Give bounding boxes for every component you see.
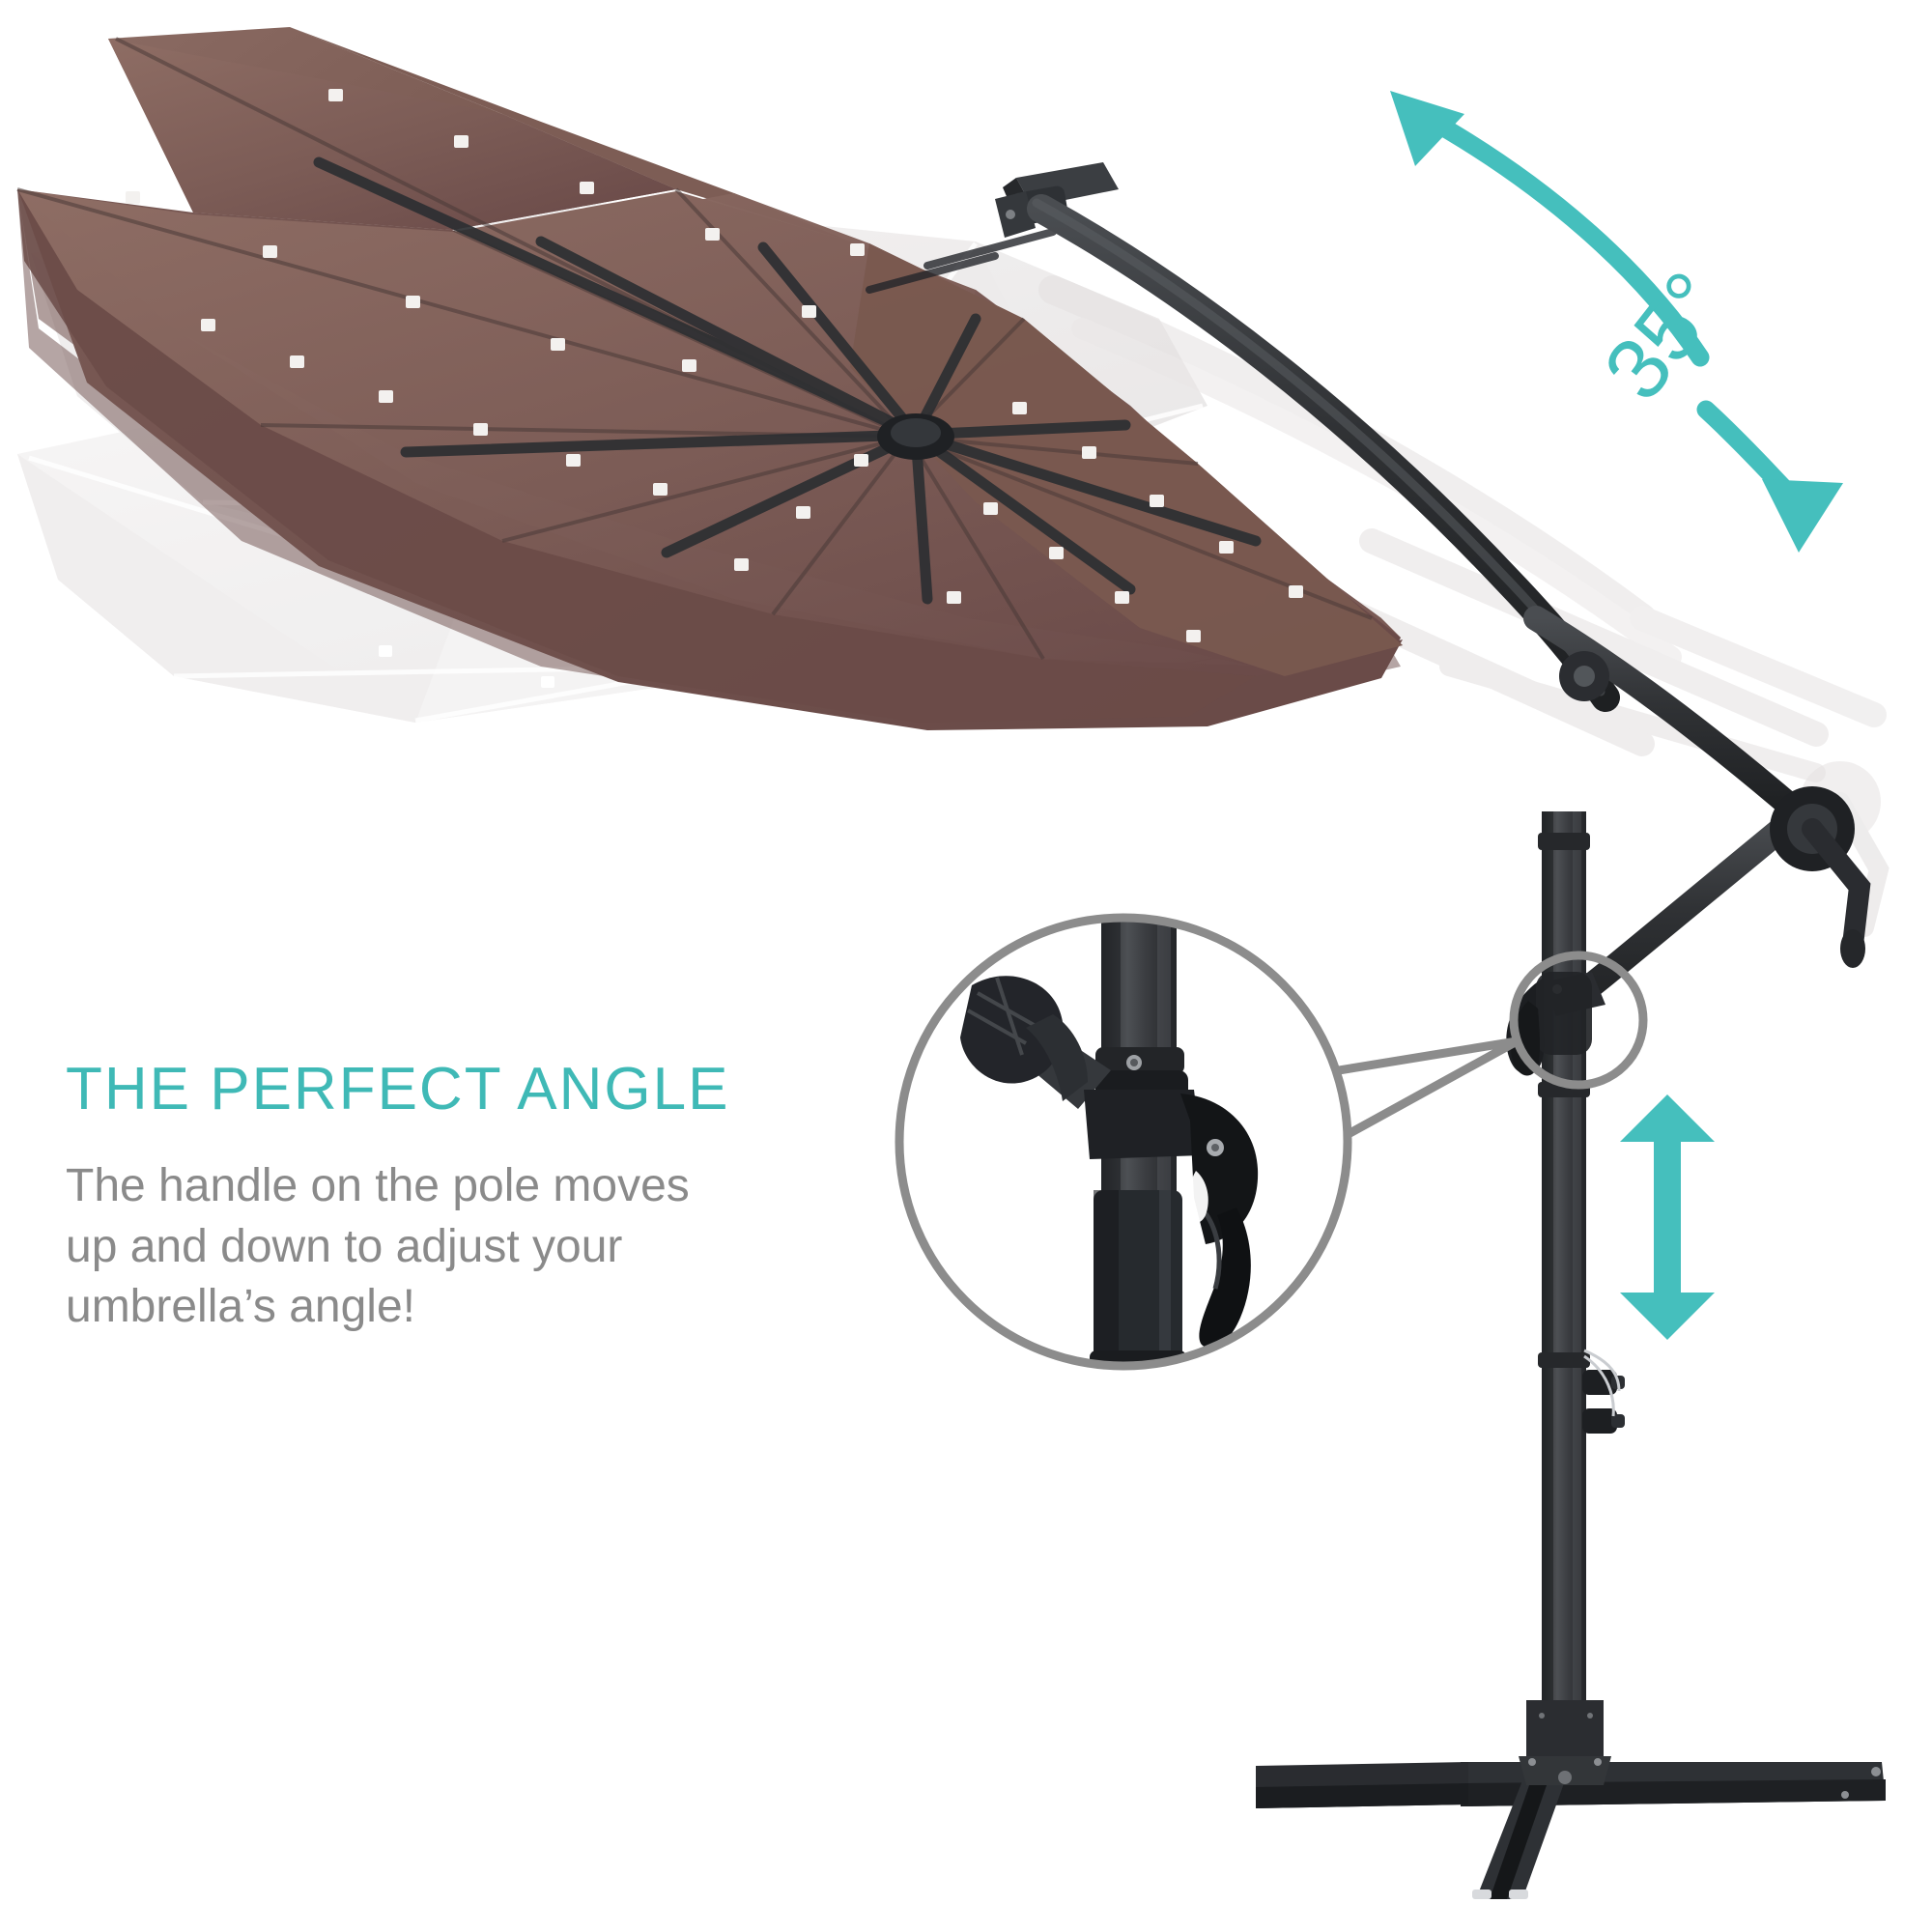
page-title: THE PERFECT ANGLE: [66, 1059, 916, 1120]
description-line-1: The handle on the pole moves: [66, 1156, 829, 1216]
canopy-hub: [877, 413, 954, 460]
feature-copy-block: THE PERFECT ANGLE The handle on the pole…: [66, 1059, 916, 1337]
arm-elbow-joint: [1559, 651, 1609, 701]
height-double-arrow: [1620, 1094, 1715, 1340]
cross-base: [1256, 1700, 1886, 1899]
handle-detail-magnifier: [889, 908, 1362, 1391]
umbrella-illustration: 35°: [0, 0, 1932, 1932]
description-line-3: umbrella’s angle!: [66, 1277, 829, 1337]
tilt-angle-label: 35°: [1586, 255, 1744, 418]
feature-description: The handle on the pole moves up and down…: [66, 1156, 829, 1337]
description-line-2: up and down to adjust your: [66, 1217, 829, 1277]
product-feature-image: 35° THE PERFECT ANGLE The handle on the …: [0, 0, 1932, 1932]
crank-handle: [1770, 786, 1865, 968]
tilt-angle-text: 35°: [1586, 255, 1744, 418]
